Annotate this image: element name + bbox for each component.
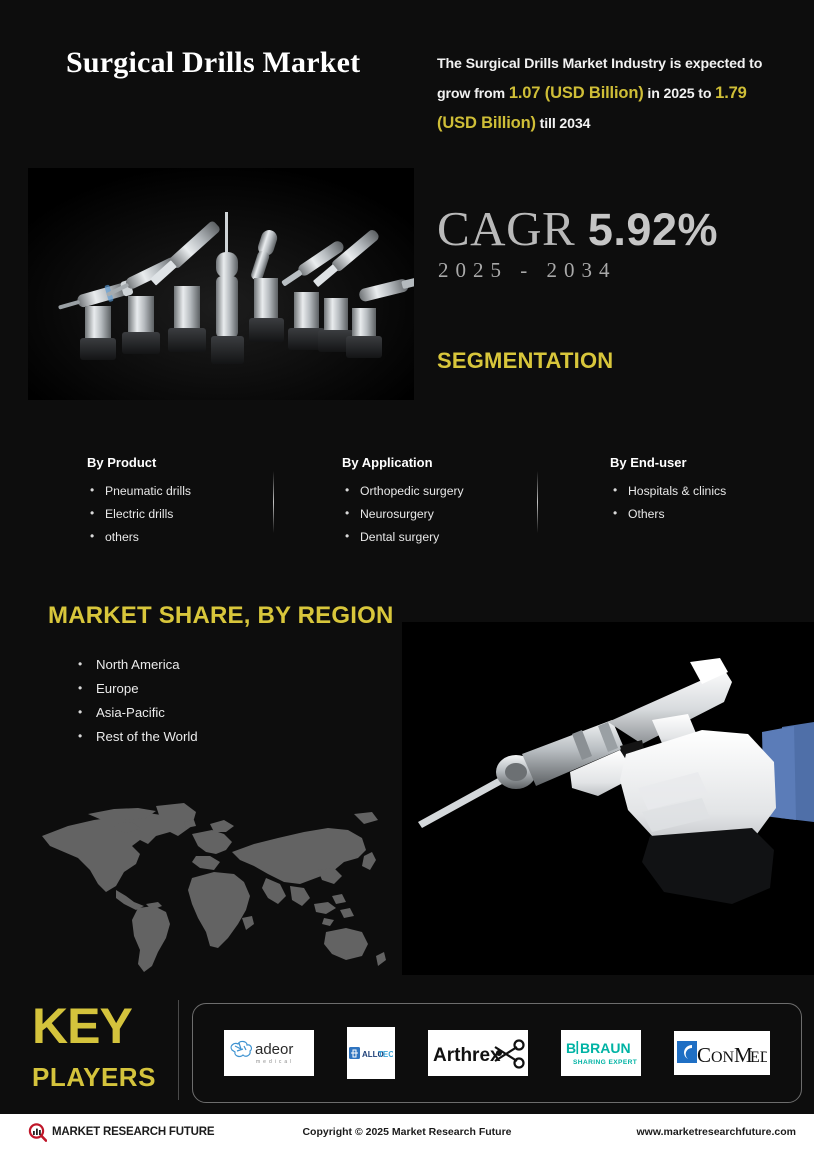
allotech-logo-icon: ALLO TECH xyxy=(349,1045,393,1061)
intro-mid: in 2025 to xyxy=(644,86,716,102)
intro-value-2025: 1.07 (USD Billion) xyxy=(509,84,644,102)
segmentation-list: Orthopedic surgery Neurosurgery Dental s… xyxy=(342,480,532,549)
list-item: Orthopedic surgery xyxy=(342,480,532,503)
key-players-separator xyxy=(178,1000,179,1100)
segmentation-list: Pneumatic drills Electric drills others xyxy=(87,480,267,549)
list-item: Hospitals & clinics xyxy=(610,480,790,503)
logo-allotech[interactable]: ALLO TECH xyxy=(347,1027,395,1079)
footer-copyright: Copyright © 2025 Market Research Future xyxy=(302,1126,511,1138)
market-intro-text: The Surgical Drills Market Industry is e… xyxy=(437,50,789,139)
svg-text:B: B xyxy=(566,1040,576,1056)
key-players-title-line1: KEY xyxy=(32,1000,132,1052)
world-map xyxy=(28,800,400,982)
footer-brand[interactable]: MARKET RESEARCH FUTURE xyxy=(28,1123,214,1142)
svg-text:ED: ED xyxy=(750,1049,767,1066)
arthrex-logo-icon: Arthrex xyxy=(431,1035,525,1071)
footer: MARKET RESEARCH FUTURE Copyright © 2025 … xyxy=(0,1114,814,1150)
segmentation-list: Hospitals & clinics Others xyxy=(610,480,790,526)
segmentation-column-application: By Application Orthopedic surgery Neuros… xyxy=(342,455,532,549)
segmentation-title: By Application xyxy=(342,455,532,470)
market-share-region-list: North America Europe Asia-Pacific Rest o… xyxy=(76,653,198,749)
segmentation-column-enduser: By End-user Hospitals & clinics Others xyxy=(610,455,790,526)
svg-text:adeor: adeor xyxy=(255,1041,293,1058)
conmed-logo-icon: C ON M ED xyxy=(677,1039,767,1067)
list-item: others xyxy=(87,526,267,549)
segmentation-section: By Product Pneumatic drills Electric dri… xyxy=(0,455,814,555)
hand-drill-illustration xyxy=(402,622,814,975)
adeor-logo-icon: adeor medical xyxy=(227,1036,311,1070)
surgical-drills-photo xyxy=(28,168,414,400)
infographic-page: Surgical Drills Market The Surgical Dril… xyxy=(0,0,814,1150)
logo-bbraun[interactable]: B BRAUN SHARING EXPERTISE xyxy=(561,1030,641,1076)
segmentation-column-product: By Product Pneumatic drills Electric dri… xyxy=(87,455,267,549)
list-item: Dental surgery xyxy=(342,526,532,549)
svg-text:TECH: TECH xyxy=(378,1050,393,1059)
list-item: Europe xyxy=(76,677,198,701)
segmentation-divider-2 xyxy=(537,471,538,533)
segmentation-title: By Product xyxy=(87,455,267,470)
page-title: Surgical Drills Market xyxy=(66,42,396,83)
cagr-label: CAGR xyxy=(437,201,575,256)
drill-lineup-illustration xyxy=(28,168,414,400)
list-item: Rest of the World xyxy=(76,725,198,749)
market-share-heading: MARKET SHARE, BY REGION xyxy=(48,602,394,630)
magnifier-chart-icon xyxy=(28,1123,47,1142)
list-item: Pneumatic drills xyxy=(87,480,267,503)
segmentation-heading: SEGMENTATION xyxy=(437,348,613,374)
list-item: Electric drills xyxy=(87,503,267,526)
list-item: Neurosurgery xyxy=(342,503,532,526)
svg-text:C: C xyxy=(697,1043,711,1067)
logo-adeor[interactable]: adeor medical xyxy=(224,1030,314,1076)
footer-url[interactable]: www.marketresearchfuture.com xyxy=(636,1126,796,1138)
svg-text:BRAUN: BRAUN xyxy=(580,1040,631,1056)
segmentation-title: By End-user xyxy=(610,455,790,470)
svg-text:medical: medical xyxy=(256,1059,294,1065)
world-map-illustration xyxy=(28,800,400,982)
surgeon-hand-drill-photo xyxy=(402,622,814,975)
segmentation-divider-1 xyxy=(273,471,274,533)
logo-conmed[interactable]: C ON M ED xyxy=(674,1031,770,1075)
cagr-percent: 5.92% xyxy=(588,204,718,255)
list-item: Asia-Pacific xyxy=(76,701,198,725)
logo-arthrex[interactable]: Arthrex xyxy=(428,1030,528,1076)
cagr-value: CAGR 5.92% xyxy=(437,200,718,257)
footer-brand-text: MARKET RESEARCH FUTURE xyxy=(52,1126,214,1138)
svg-text:Arthrex: Arthrex xyxy=(433,1045,501,1066)
intro-post: till 2034 xyxy=(536,116,591,132)
key-players-title-line2: PLAYERS xyxy=(32,1062,156,1093)
cagr-years: 2025 - 2034 xyxy=(438,258,617,283)
svg-text:SHARING EXPERTISE: SHARING EXPERTISE xyxy=(573,1059,637,1066)
svg-text:ON: ON xyxy=(711,1049,735,1066)
list-item: Others xyxy=(610,503,790,526)
key-players-logo-box: adeor medical ALLO TECH Arthrex xyxy=(192,1003,802,1103)
bbraun-logo-icon: B BRAUN SHARING EXPERTISE xyxy=(565,1038,637,1068)
list-item: North America xyxy=(76,653,198,677)
